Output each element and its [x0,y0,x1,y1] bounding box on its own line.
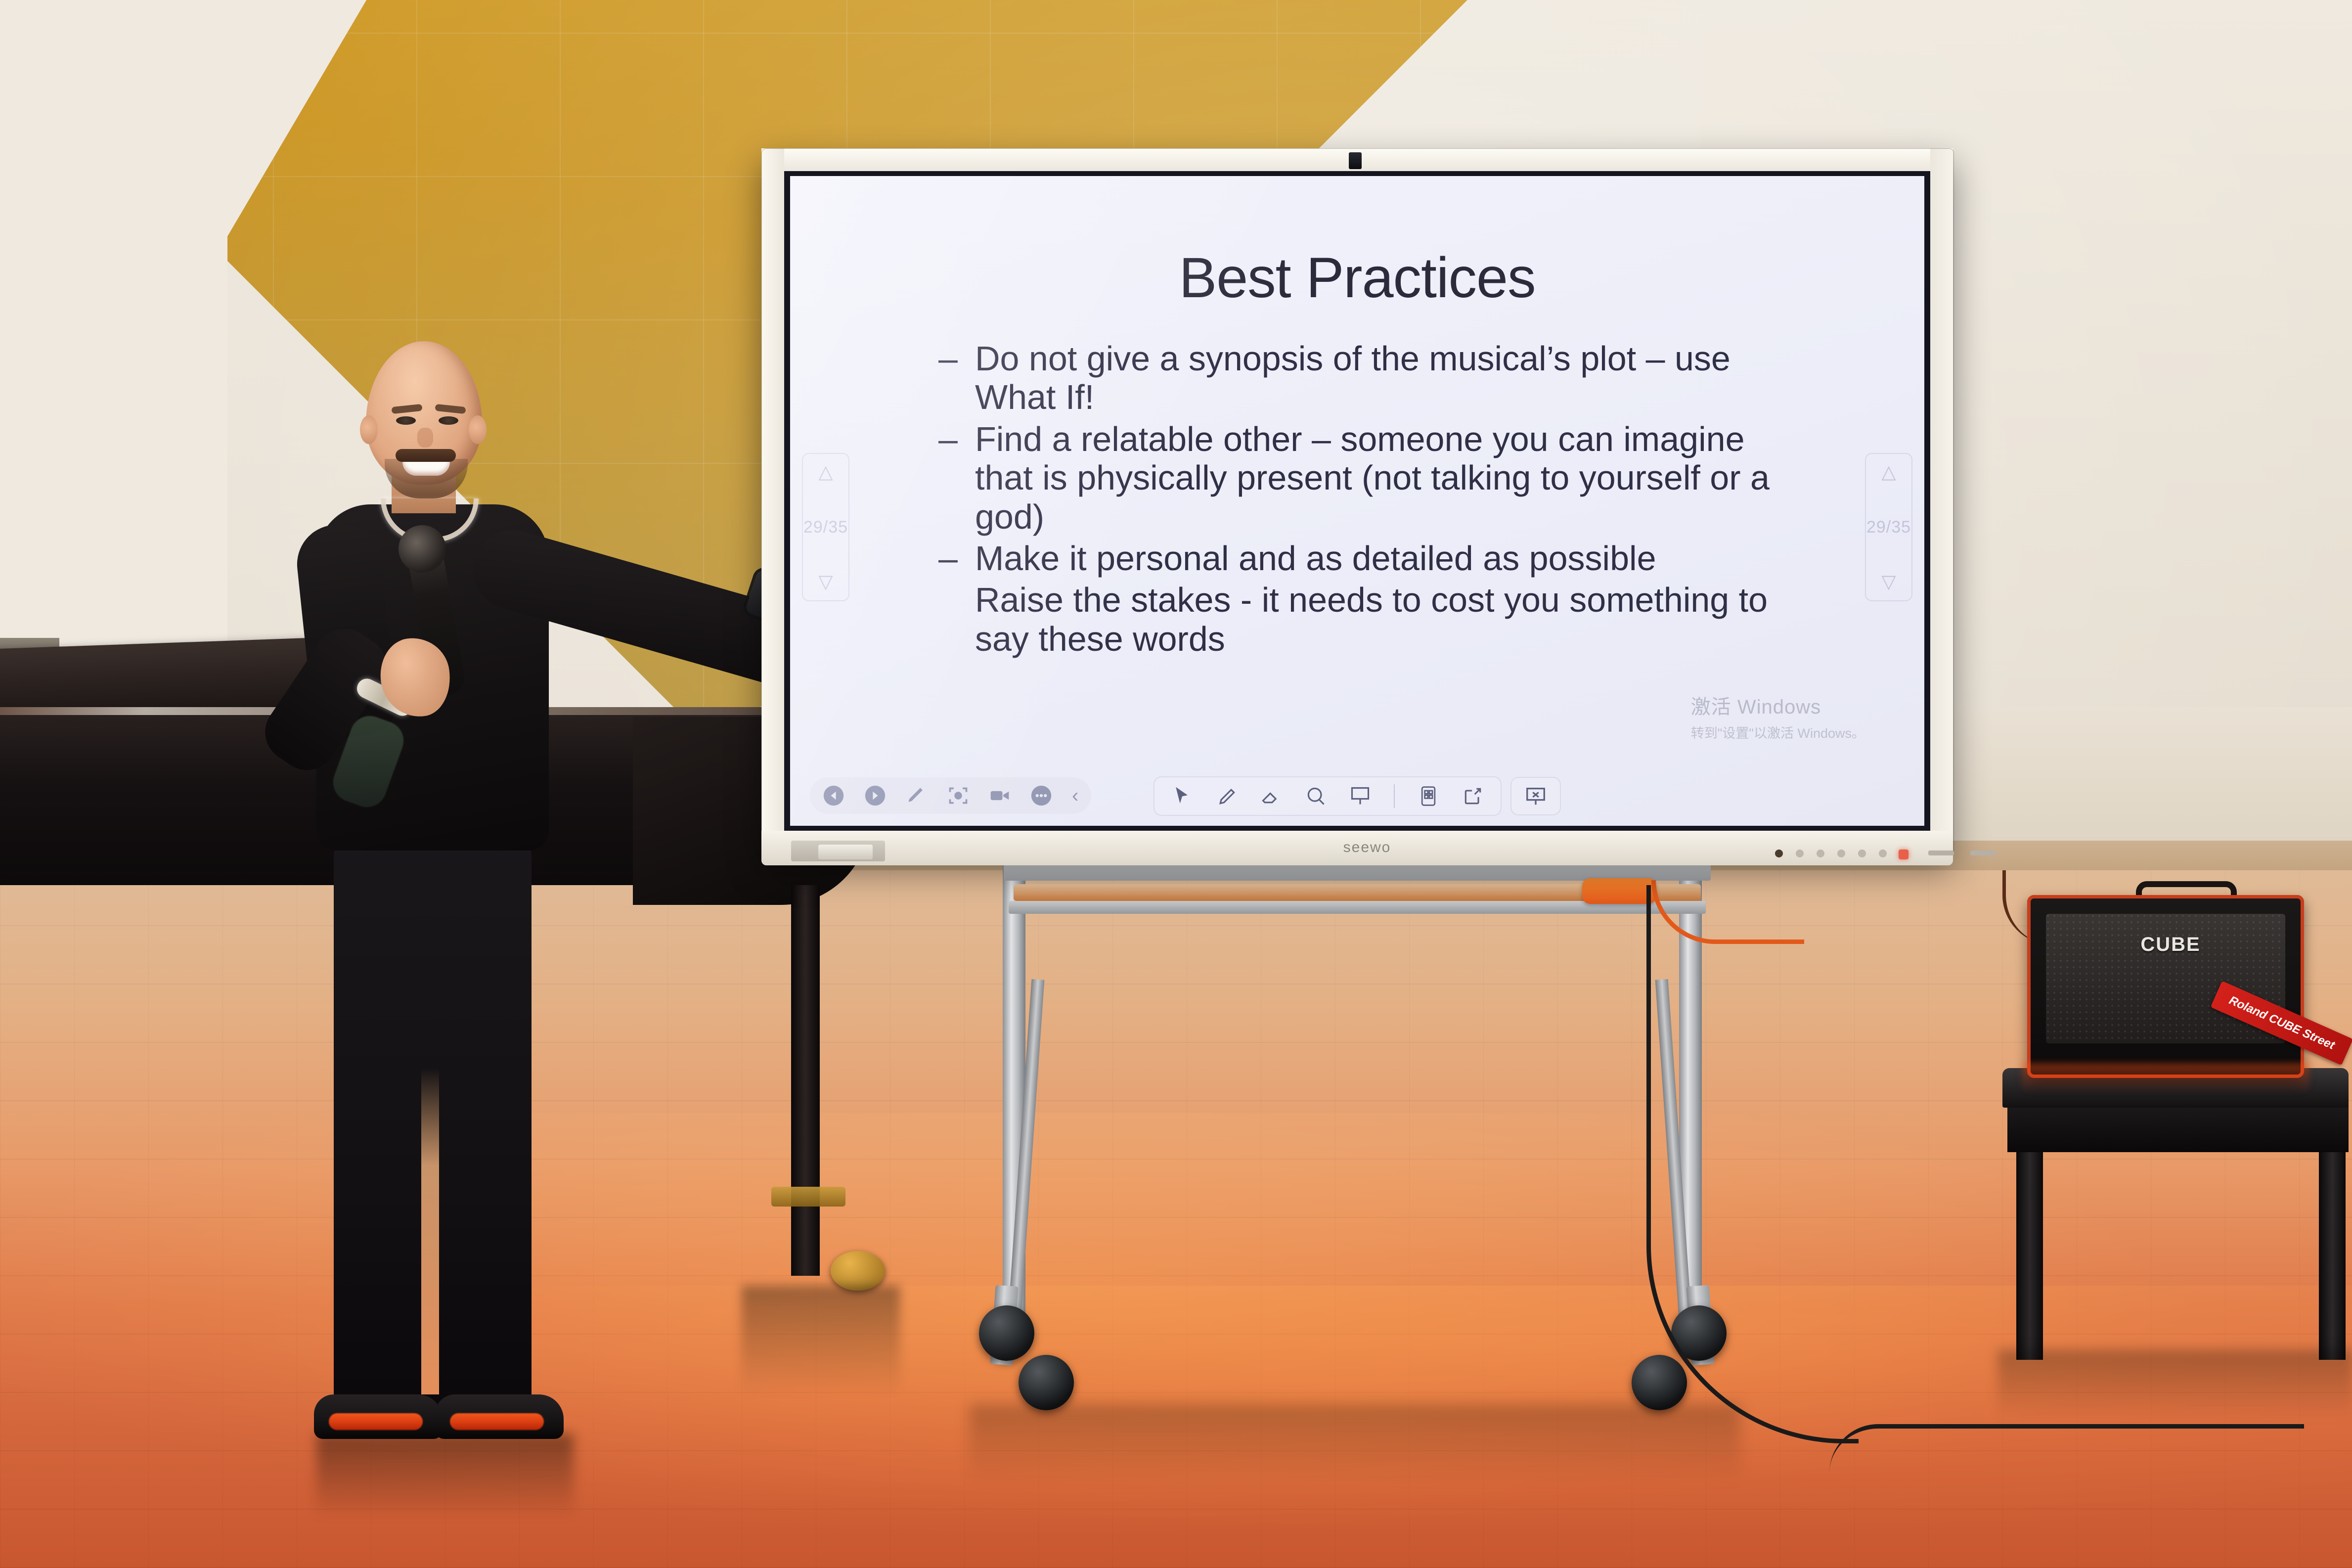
magnifier-icon[interactable] [1305,785,1327,807]
bench-leg-right [2319,1147,2346,1360]
slide-bullet-list: – Do not give a synopsis of the musical’… [938,339,1789,661]
bench-floor-reflection [1997,1350,2352,1419]
bullet-dash: – [938,539,958,578]
camera-icon [1349,152,1362,169]
presenter-ear-right [469,415,487,444]
presenter-mouth [402,462,450,476]
toolbar-divider [1394,784,1395,808]
cursor-icon[interactable] [1171,785,1193,807]
eraser-icon[interactable] [1260,785,1282,807]
pen-icon[interactable] [1216,785,1238,807]
presenter-eye-right [439,416,458,425]
page-nav-right[interactable]: △ 29/35 ▽ [1865,453,1912,601]
stand-caster [1632,1355,1687,1410]
page-counter: 29/35 [1866,518,1911,537]
exit-presentation-icon[interactable] [1524,785,1547,807]
panel-button-label[interactable] [1928,851,1954,855]
stand-floor-reflection [969,1404,1740,1483]
indicator-dot [1837,850,1845,857]
next-slide-icon[interactable] [864,785,886,806]
bullet-text: Find a relatable other – someone you can… [975,420,1789,536]
previous-slide-icon[interactable] [823,785,844,806]
collapse-toolbar-icon[interactable]: ‹ [1072,786,1078,806]
presenter-floor-reflection [316,1434,574,1518]
chevron-up-icon[interactable]: △ [1881,463,1896,482]
chevron-down-icon[interactable]: ▽ [1881,573,1896,591]
bullet-text: Make it personal and as detailed as poss… [975,539,1656,578]
panel-right-bezel [1930,148,1953,855]
panel-left-bezel [761,148,784,855]
bullet-text: Raise the stakes - it needs to cost you … [975,581,1789,658]
indicator-dot [1817,850,1824,857]
presenter-eye-left [396,416,416,425]
watermark-line-2: 转到"设置"以激活 Windows。 [1691,722,1865,742]
brand-logo: seewo [1313,839,1421,856]
bench-apron [2007,1103,2349,1152]
media-toolbar[interactable]: ‹ [810,777,1091,814]
indicator-dot [1775,850,1783,857]
bench-leg-left [2016,1147,2043,1360]
share-icon[interactable] [1462,785,1484,807]
stand-caster [1019,1355,1074,1410]
stand-caster [979,1305,1034,1361]
amplifier-brand-label: CUBE [2121,934,2220,956]
shoe-light-reflection-right [450,1413,544,1430]
exit-presentation-button[interactable] [1510,777,1561,815]
panel-indicator-dots [1775,850,1908,857]
slide-title: Best Practices [790,245,1924,311]
presentation-slide[interactable]: Best Practices – Do not give a synopsis … [790,176,1924,826]
bullet-dash: – [938,339,958,378]
bullet-text: Do not give a synopsis of the musical’s … [975,339,1789,417]
stage-scene: CUBE Roland CUBE Street Best Practices –… [0,0,2352,1568]
presenter-leg-gap [421,1068,439,1394]
indicator-dot [1858,850,1866,857]
amplifier-light-glow [2022,1063,2309,1093]
capture-icon[interactable] [947,785,969,806]
indicator-dot [1796,850,1804,857]
annotation-tool-group[interactable] [1154,776,1502,816]
indicator-dot [1879,850,1887,857]
chevron-up-icon[interactable]: △ [818,463,833,482]
orange-cable-clip [1582,878,1656,904]
presenter-moustache [396,449,456,462]
presenter-ear-left [360,415,378,444]
annotation-toolbar[interactable] [1154,776,1561,816]
slide-bullet-item: – Do not give a synopsis of the musical’… [938,339,1789,417]
chevron-down-icon[interactable]: ▽ [818,573,833,591]
floor-cable [1829,1424,2304,1473]
record-video-icon[interactable] [989,785,1011,806]
shoe-light-reflection-left [329,1413,423,1430]
page-nav-left[interactable]: △ 29/35 ▽ [802,453,849,601]
panel-button-label[interactable] [1970,851,1996,855]
bullet-dash: – [938,420,958,458]
slide-bullet-item: – Make it personal and as detailed as po… [938,539,1789,578]
slide-bullet-item: – Raise the stakes - it needs to cost yo… [938,581,1789,658]
presenter-nose [417,428,433,448]
slide-bullet-item: – Find a relatable other – someone you c… [938,420,1789,536]
pen-icon[interactable] [906,785,928,806]
more-icon[interactable] [1030,785,1052,806]
page-counter: 29/35 [803,518,848,537]
whiteboard-icon[interactable] [1349,785,1371,807]
windows-activation-watermark: 激活 Windows 转到"设置"以激活 Windows。 [1691,691,1865,742]
power-led-icon [1899,850,1908,859]
qr-code-icon[interactable] [1418,785,1439,807]
panel-port-usb [818,845,873,859]
watermark-line-1: 激活 Windows [1691,691,1865,719]
